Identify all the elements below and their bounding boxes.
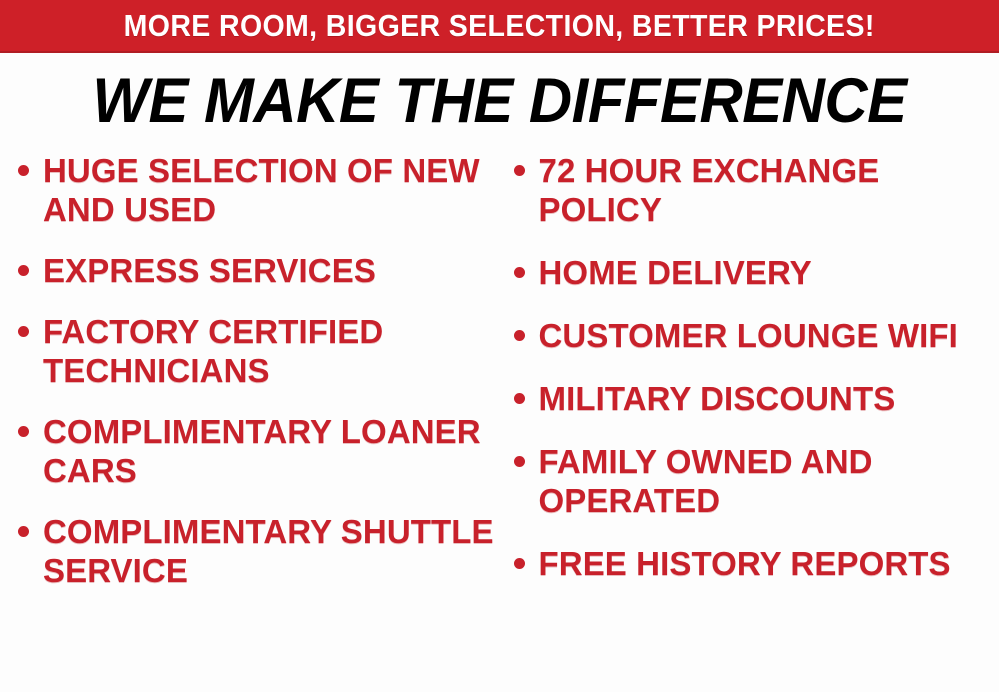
features-column-left: HUGE SELECTION OF NEW AND USED EXPRESS S… — [0, 152, 500, 692]
bullet-icon — [514, 267, 525, 278]
list-item: MILITARY DISCOUNTS — [514, 380, 998, 419]
bullet-icon — [18, 326, 29, 337]
feature-label: COMPLIMENTARY LOANER CARS — [43, 413, 496, 491]
feature-label: HUGE SELECTION OF NEW AND USED — [43, 152, 496, 230]
feature-list-right: 72 HOUR EXCHANGE POLICY HOME DELIVERY CU… — [514, 152, 998, 584]
list-item: CUSTOMER LOUNGE WIFI — [514, 317, 998, 356]
bullet-icon — [514, 330, 525, 341]
features-column-right: 72 HOUR EXCHANGE POLICY HOME DELIVERY CU… — [500, 152, 999, 692]
feature-label: CUSTOMER LOUNGE WIFI — [539, 317, 958, 356]
list-item: 72 HOUR EXCHANGE POLICY — [514, 152, 998, 230]
list-item: COMPLIMENTARY LOANER CARS — [18, 413, 496, 491]
feature-label: 72 HOUR EXCHANGE POLICY — [539, 152, 998, 230]
list-item: HUGE SELECTION OF NEW AND USED — [18, 152, 496, 230]
list-item: FAMILY OWNED AND OPERATED — [514, 443, 998, 521]
page-title: WE MAKE THE DIFFERENCE — [92, 70, 906, 133]
promo-poster: MORE ROOM, BIGGER SELECTION, BETTER PRIC… — [0, 0, 999, 692]
feature-label: COMPLIMENTARY SHUTTLE SERVICE — [43, 513, 496, 591]
list-item: FACTORY CERTIFIED TECHNICIANS — [18, 313, 496, 391]
bullet-icon — [18, 426, 29, 437]
bullet-icon — [18, 165, 29, 176]
bullet-icon — [514, 456, 525, 467]
bullet-icon — [514, 558, 525, 569]
feature-label: FAMILY OWNED AND OPERATED — [539, 443, 998, 521]
bullet-icon — [514, 165, 525, 176]
list-item: COMPLIMENTARY SHUTTLE SERVICE — [18, 513, 496, 591]
list-item: EXPRESS SERVICES — [18, 252, 496, 291]
feature-label: MILITARY DISCOUNTS — [539, 380, 896, 419]
banner-headline-text: MORE ROOM, BIGGER SELECTION, BETTER PRIC… — [124, 10, 875, 41]
bullet-icon — [514, 393, 525, 404]
feature-label: EXPRESS SERVICES — [43, 252, 376, 291]
bullet-icon — [18, 265, 29, 276]
feature-label: FREE HISTORY REPORTS — [539, 545, 951, 584]
bullet-icon — [18, 526, 29, 537]
feature-list-left: HUGE SELECTION OF NEW AND USED EXPRESS S… — [18, 152, 496, 590]
list-item: FREE HISTORY REPORTS — [514, 545, 998, 584]
headline-container: WE MAKE THE DIFFERENCE — [0, 62, 999, 140]
feature-label: FACTORY CERTIFIED TECHNICIANS — [43, 313, 496, 391]
top-banner: MORE ROOM, BIGGER SELECTION, BETTER PRIC… — [0, 0, 999, 53]
list-item: HOME DELIVERY — [514, 254, 998, 293]
features-columns: HUGE SELECTION OF NEW AND USED EXPRESS S… — [0, 152, 999, 692]
feature-label: HOME DELIVERY — [539, 254, 812, 293]
